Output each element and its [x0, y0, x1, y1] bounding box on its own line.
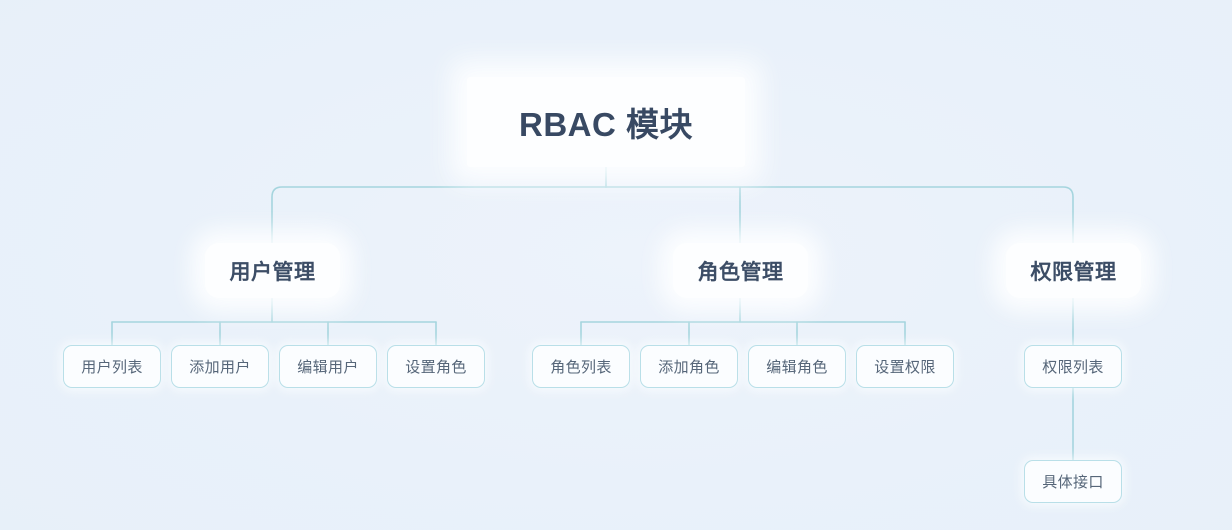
diagram-canvas: RBAC 模块 用户管理 角色管理 权限管理 用户列表 添加用户 编辑用户 设置…: [0, 0, 1232, 530]
node-label: 添加角色: [658, 356, 720, 377]
node-role-management[interactable]: 角色管理: [673, 243, 808, 298]
node-concrete-api[interactable]: 具体接口: [1024, 460, 1122, 503]
node-set-role[interactable]: 设置角色: [387, 345, 485, 388]
node-label: 角色管理: [698, 256, 784, 286]
link-bus-right: [606, 187, 1073, 243]
node-label: 权限管理: [1031, 256, 1117, 286]
node-edit-user[interactable]: 编辑用户: [279, 345, 377, 388]
node-label: 用户列表: [81, 356, 143, 377]
node-label: 编辑角色: [766, 356, 828, 377]
node-user-management[interactable]: 用户管理: [205, 243, 340, 298]
node-label: 权限列表: [1042, 356, 1104, 377]
node-user-list[interactable]: 用户列表: [63, 345, 161, 388]
node-add-user[interactable]: 添加用户: [171, 345, 269, 388]
node-label: 添加用户: [189, 356, 251, 377]
node-root-label: RBAC 模块: [519, 98, 693, 146]
node-label: 具体接口: [1042, 471, 1104, 492]
node-label: 设置角色: [405, 356, 467, 377]
node-root[interactable]: RBAC 模块: [467, 77, 745, 167]
node-label: 设置权限: [874, 356, 936, 377]
node-label: 角色列表: [550, 356, 612, 377]
node-edit-role[interactable]: 编辑角色: [748, 345, 846, 388]
link-bus-left: [272, 187, 606, 243]
node-permission-management[interactable]: 权限管理: [1006, 243, 1141, 298]
node-label: 编辑用户: [297, 356, 359, 377]
node-permission-list[interactable]: 权限列表: [1024, 345, 1122, 388]
node-set-permission[interactable]: 设置权限: [856, 345, 954, 388]
node-add-role[interactable]: 添加角色: [640, 345, 738, 388]
node-label: 用户管理: [230, 256, 316, 286]
node-role-list[interactable]: 角色列表: [532, 345, 630, 388]
